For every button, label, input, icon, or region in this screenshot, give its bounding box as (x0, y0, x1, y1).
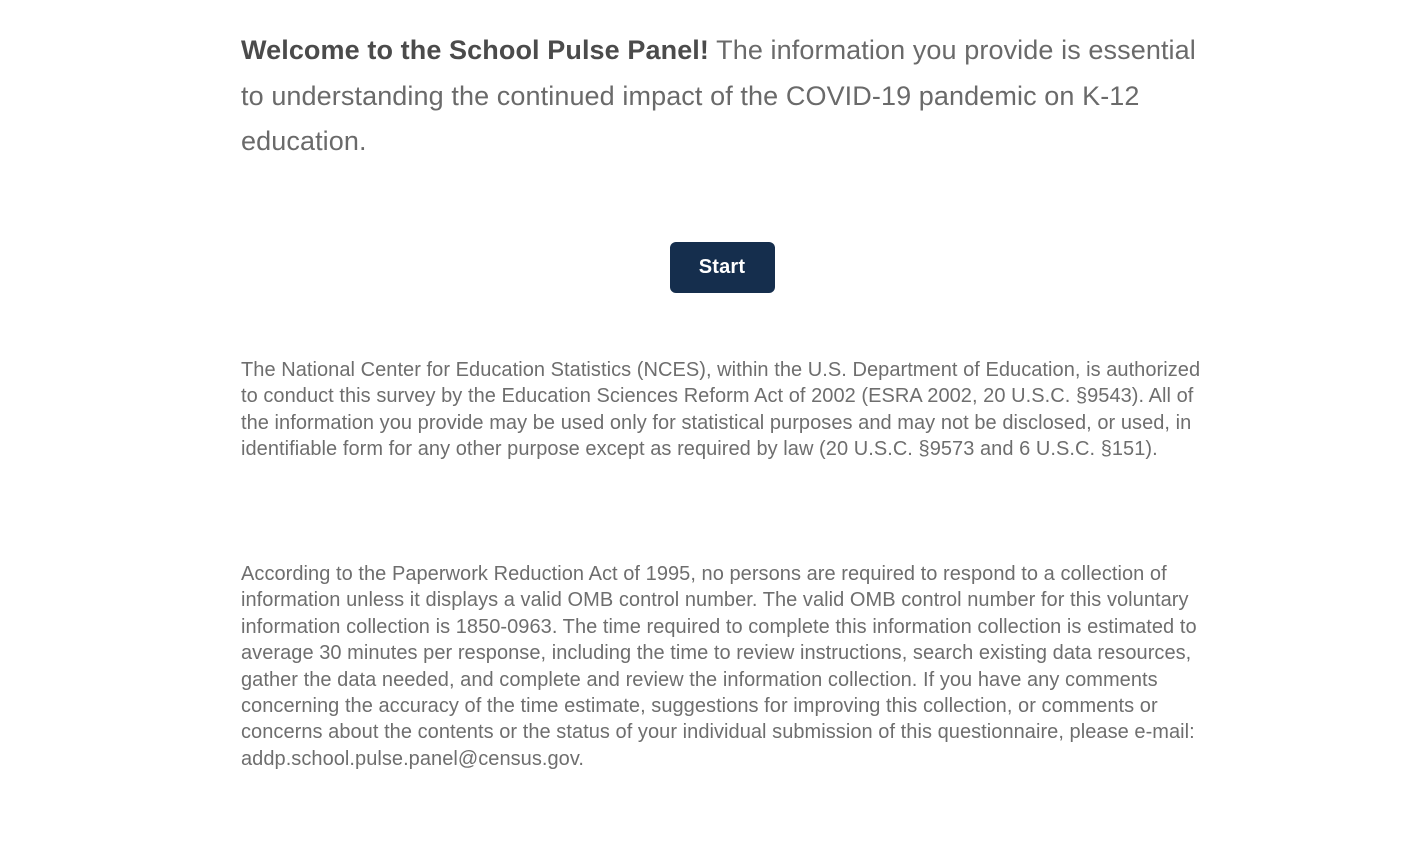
welcome-heading: Welcome to the School Pulse Panel! The i… (241, 0, 1201, 165)
paperwork-notice-text: According to the Paperwork Reduction Act… (241, 561, 1201, 772)
content-column: Welcome to the School Pulse Panel! The i… (241, 0, 1201, 165)
authority-notice-block: The National Center for Education Statis… (241, 357, 1201, 463)
welcome-heading-lead: Welcome to the School Pulse Panel! (241, 35, 709, 65)
paperwork-notice-block: According to the Paperwork Reduction Act… (241, 561, 1201, 772)
start-button[interactable]: Start (670, 242, 775, 293)
authority-notice-text: The National Center for Education Statis… (241, 357, 1201, 463)
survey-welcome-page: Welcome to the School Pulse Panel! The i… (0, 0, 1413, 865)
start-button-row: Start (241, 242, 1203, 293)
